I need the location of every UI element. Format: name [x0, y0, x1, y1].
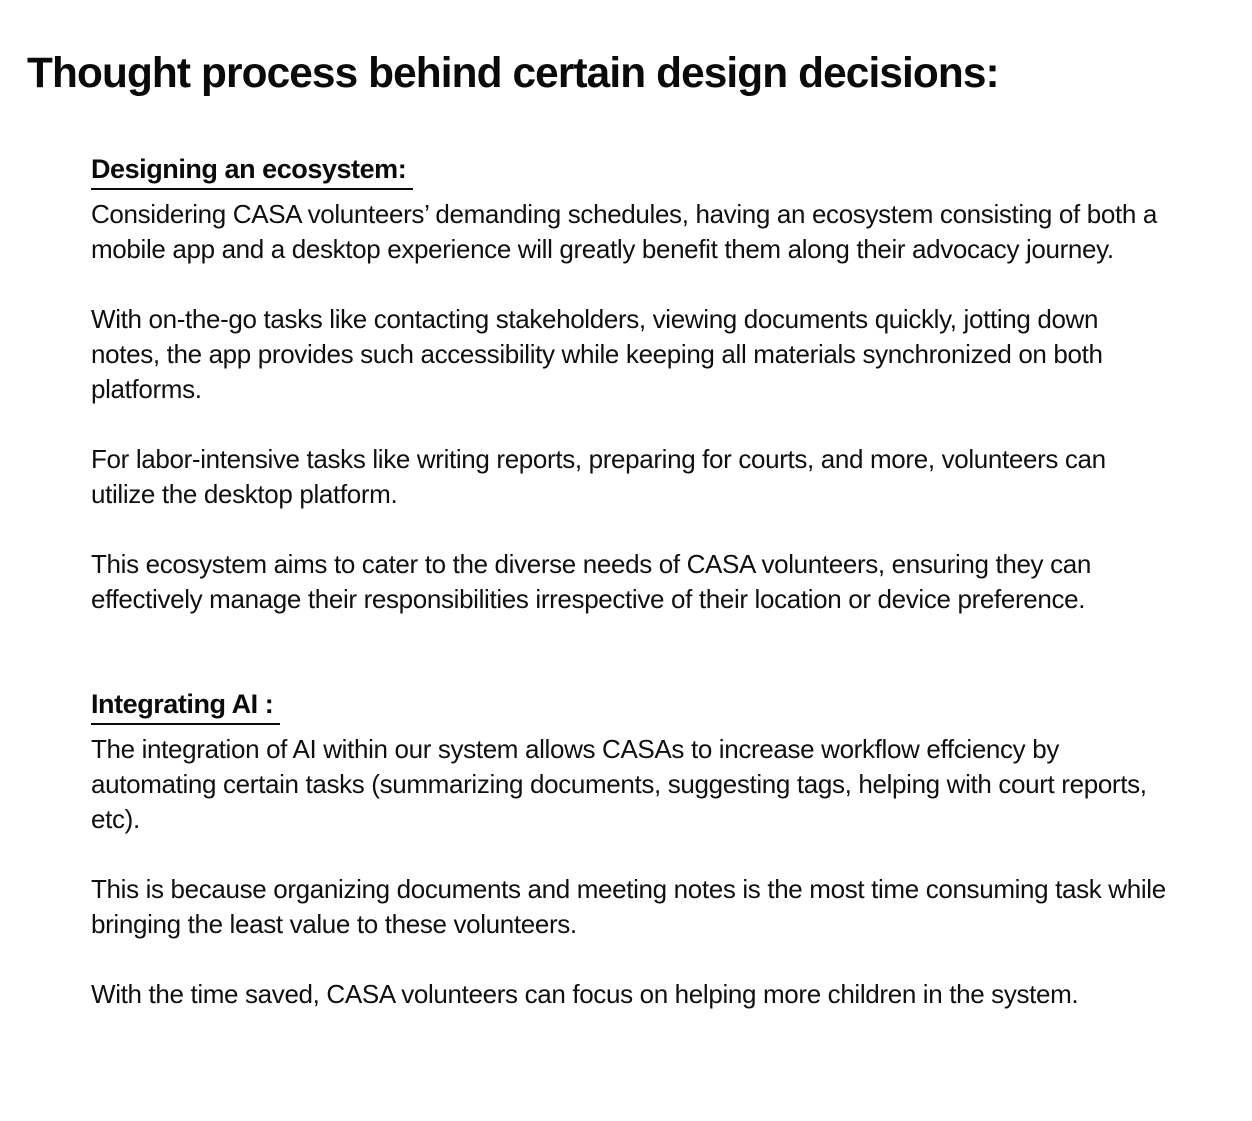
section-integrating-ai: Integrating AI : The integration of AI w…: [91, 687, 1166, 1012]
section-designing-an-ecosystem: Designing an ecosystem: Considering CASA…: [91, 152, 1166, 617]
section-heading-row: Integrating AI :: [91, 687, 1166, 726]
paragraph: With on-the-go tasks like contacting sta…: [91, 302, 1166, 407]
slide-canvas: Thought process behind certain design de…: [0, 0, 1252, 1121]
section-heading-row: Designing an ecosystem:: [91, 152, 1166, 191]
paragraph: The integration of AI within our system …: [91, 732, 1166, 837]
paragraph: This is because organizing documents and…: [91, 872, 1166, 942]
paragraph: Considering CASA volunteers’ demanding s…: [91, 197, 1166, 267]
paragraph: This ecosystem aims to cater to the dive…: [91, 547, 1166, 617]
paragraph: For labor-intensive tasks like writing r…: [91, 442, 1166, 512]
section-heading-integrating-ai: Integrating AI :: [91, 687, 280, 725]
page-title: Thought process behind certain design de…: [27, 47, 1209, 99]
paragraph: With the time saved, CASA volunteers can…: [91, 977, 1166, 1012]
content-column: Designing an ecosystem: Considering CASA…: [91, 152, 1166, 1012]
section-heading-designing-an-ecosystem: Designing an ecosystem:: [91, 152, 413, 190]
